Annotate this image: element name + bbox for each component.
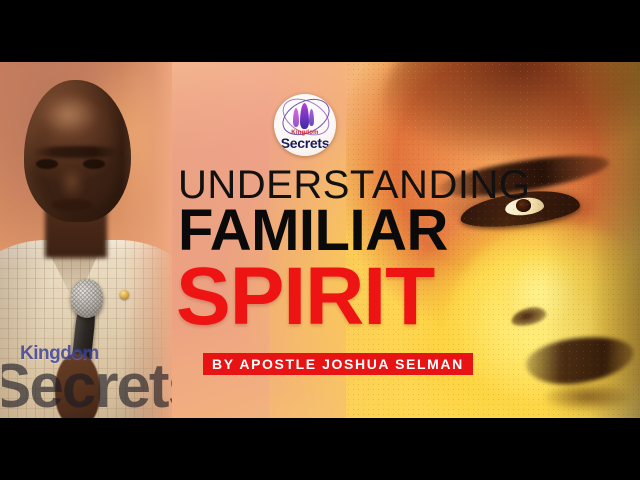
speaker-eye-right <box>83 159 105 169</box>
speaker-mouth <box>52 199 93 211</box>
speaker-hand <box>55 354 100 418</box>
speaker-photo-blend-edge <box>122 62 172 418</box>
speaker-portrait <box>0 62 172 418</box>
speaker-forehead-highlight <box>41 94 103 140</box>
kingdom-secrets-logo: Kingdom Secrets <box>274 94 336 156</box>
face-edge-vignette <box>544 62 640 418</box>
logo-secrets-text: Secrets <box>274 136 336 150</box>
thumbnail-content-band: Kingdom Secrets Kingdom Secrets UNDERSTA… <box>0 62 640 418</box>
video-thumbnail: Kingdom Secrets Kingdom Secrets UNDERSTA… <box>0 0 640 480</box>
intense-face-portrait <box>346 62 640 418</box>
letterbox-bar-top <box>0 0 640 62</box>
speaker-eye-left <box>36 159 58 169</box>
letterbox-bar-bottom <box>0 418 640 480</box>
